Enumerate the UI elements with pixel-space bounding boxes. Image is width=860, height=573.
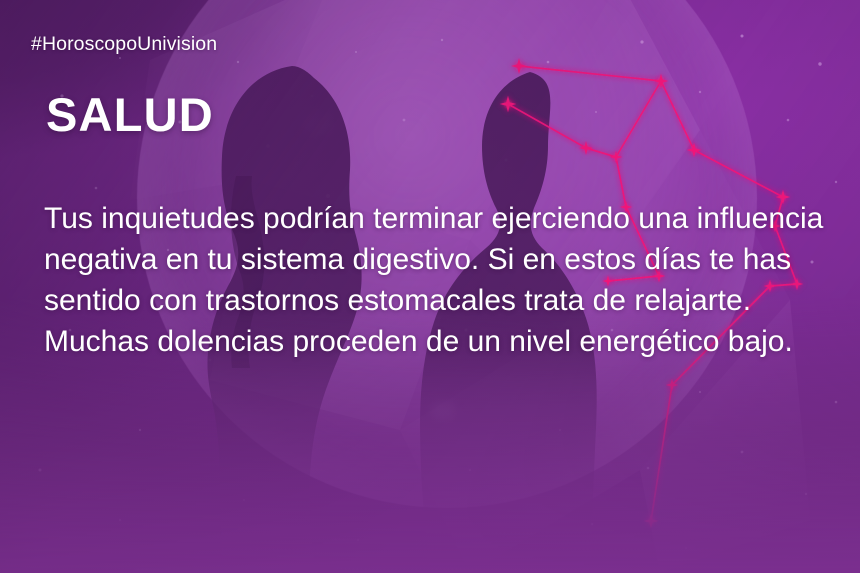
horoscope-body-text: Tus inquietudes podrían terminar ejercie… — [44, 198, 834, 362]
card-content: #HoroscopoUnivision SALUD Tus inquietude… — [0, 0, 860, 573]
page-title: SALUD — [46, 91, 214, 138]
hashtag-label: #HoroscopoUnivision — [31, 33, 217, 56]
horoscope-card: #HoroscopoUnivision SALUD Tus inquietude… — [0, 0, 860, 573]
